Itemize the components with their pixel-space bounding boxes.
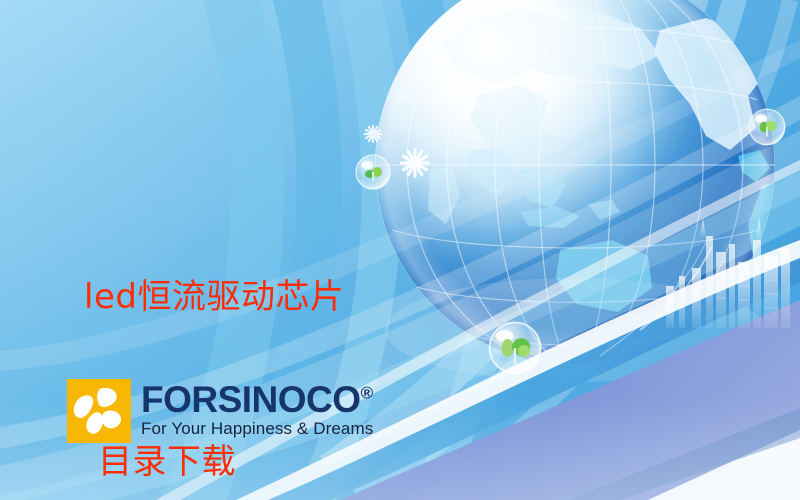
pinwheel-logo-icon bbox=[67, 379, 131, 443]
bubble bbox=[749, 109, 785, 145]
company-logo[interactable]: FORSINOCO® For Your Happiness & Dreams bbox=[67, 379, 373, 443]
bubble bbox=[356, 155, 390, 189]
headline-line-2: 目录下载 bbox=[84, 435, 344, 490]
bubble bbox=[490, 323, 541, 374]
brand-name: FORSINOCO® bbox=[141, 381, 373, 418]
banner-image: led恒流驱动芯片 目录下载 FORSINOCO® For Your Happi… bbox=[0, 0, 800, 500]
brand-tagline: For Your Happiness & Dreams bbox=[141, 419, 373, 439]
registered-trademark-icon: ® bbox=[361, 384, 374, 403]
headline-line-1: led恒流驱动芯片 bbox=[84, 270, 344, 325]
brand-word: FORSINOCO bbox=[141, 379, 361, 420]
headline: led恒流驱动芯片 目录下载 bbox=[84, 160, 344, 500]
